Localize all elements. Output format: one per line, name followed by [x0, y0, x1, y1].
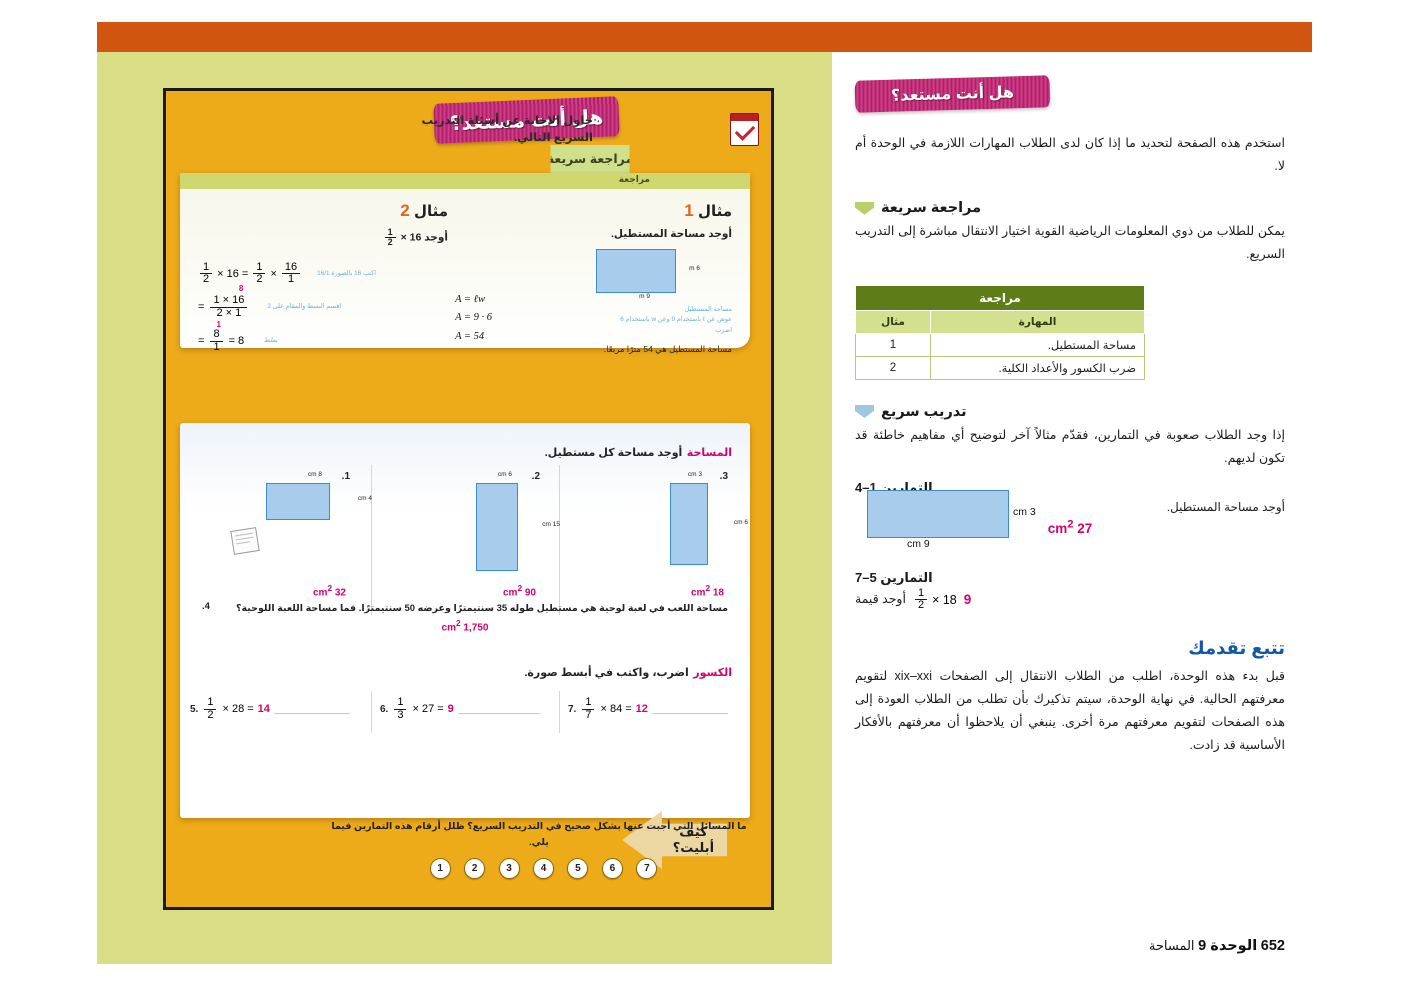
fraction-item-7-answer: 12: [636, 703, 648, 715]
ex-5-7-answer: 9: [964, 592, 972, 607]
example-2-prompt: أوجد 12 × 16: [198, 228, 448, 248]
fraction-divider-2: [371, 691, 372, 733]
example-1-formula-0: A = ℓw: [455, 291, 492, 309]
example-2-cancel-top: 8: [239, 285, 243, 293]
example-1-steps: مساحة المستطيل عوض عن ℓ باستخدام 9 وعن w…: [502, 305, 732, 336]
student-page: McGraw-Hill Education نسخة المعلم حقوق ا…: [166, 91, 771, 907]
quick-review-heading-label: مراجعة سريعة: [881, 200, 981, 216]
practice-item-3-number: 3.: [720, 471, 728, 482]
progress-circle-5[interactable]: 5: [567, 858, 588, 879]
chevron-down-icon: [855, 202, 874, 215]
review-table-skill-2: ضرب الكسور والأعداد الكلية.: [931, 356, 1145, 379]
progress-circle-6[interactable]: 6: [602, 858, 623, 879]
teacher-rectangle-width: 9 cm: [907, 538, 930, 550]
teacher-ready-banner-label: هل أنت مستعد؟: [855, 75, 1051, 112]
progress-circle-7[interactable]: 7: [636, 858, 657, 879]
top-orange-bar: [97, 22, 1312, 52]
example-2-line-2: = 1 × 162 × 1 8 1 اقسم البسط والمقام على…: [198, 295, 448, 319]
practice-item-2: 2. 6 cm 15 cm 90 cm2: [390, 471, 540, 581]
practice-item-1-answer: 32 cm2: [313, 583, 346, 598]
fraction-item-5-expr: × 28 =: [222, 703, 253, 715]
ex-5-7-title: التمارين 5–7: [855, 570, 1285, 586]
example-1-width-label: 9 m: [639, 293, 650, 300]
example-2-line-3: = 81 = 8 بسّط: [198, 329, 448, 353]
example-1-height-label: 6 m: [689, 265, 700, 272]
fraction-item-6-num: 1: [394, 697, 406, 710]
example-1-prompt: أوجد مساحة المستطيل.: [502, 228, 732, 240]
review-card: مراجعة مثال 1 أوجد مساحة المستطيل. 6 m 9…: [180, 173, 750, 348]
practice-item-2-answer: 90 cm2: [503, 583, 536, 598]
example-2-note-2: بسّط: [264, 336, 278, 346]
example-2-result: = 8: [229, 335, 245, 347]
practice-item-4: مساحة اللعب في لعبة لوحية هي مستطيل طوله…: [202, 601, 728, 634]
fraction-item-7: 7. 17 × 84 = 12: [568, 697, 728, 721]
review-table-example-1: 1: [856, 333, 931, 356]
how-did-you-do-question: ما المسائل التي أجبت عنها بشكل صحيح في ا…: [329, 819, 749, 851]
example-1-heading: مثال 1: [502, 201, 732, 221]
practice-item-1: 1. 8 cm 4 cm 32 cm2: [200, 471, 350, 581]
practice-item-3-rectangle: [670, 483, 708, 565]
practice-item-2-number: 2.: [532, 471, 540, 482]
fraction-heading-tag: الكسور: [693, 667, 732, 679]
example-1-number: 1: [684, 201, 693, 220]
quick-practice-heading: تدريب سريع: [855, 404, 1285, 420]
table-row: ضرب الكسور والأعداد الكلية. 2: [856, 356, 1145, 379]
example-1-note-2: اضرب: [502, 326, 732, 336]
example-2-number: 2: [400, 201, 409, 220]
ex-5-7-block: التمارين 5–7 9 12 × 18 أوجد قيمة: [855, 570, 1285, 612]
example-1-note-0: مساحة المستطيل: [502, 305, 732, 315]
try-hint-text: حاول الإجابة عن أسئلة التدريب السريع الت…: [413, 113, 593, 148]
practice-item-1-number: 1.: [342, 471, 350, 482]
practice-item-1-rectangle: [266, 483, 330, 520]
practice-item-2-height: 15 cm: [542, 521, 560, 528]
progress-circle-4[interactable]: 4: [533, 858, 554, 879]
example-2-note-1: اقسم البسط والمقام على 2: [267, 302, 341, 312]
quick-review-body: يمكن للطلاب من ذوي المعلومات الرياضية ال…: [855, 220, 1285, 266]
example-2-prompt-den: 2: [385, 238, 396, 247]
how-did-you-do-block: ما المسائل التي أجبت عنها بشكل صحيح في ا…: [329, 819, 749, 879]
example-1-formulas: A = ℓw A = 9 · 6 A = 54: [455, 291, 492, 346]
example-2-line-1: 12 × 16 = 12 × 161 اكتب 16 بالصورة 16/1: [198, 262, 448, 286]
example-1-formula-1: A = 9 · 6: [455, 309, 492, 327]
fraction-item-5-num: 1: [204, 697, 216, 710]
checklist-icon: [730, 113, 759, 146]
quick-practice-exercises: التمارين 1–4 أوجد مساحة المستطيل. 27 cm2…: [855, 480, 1285, 566]
example-1: مثال 1 أوجد مساحة المستطيل. 6 m 9 m مساح…: [502, 201, 732, 355]
example-2-heading: مثال 2: [198, 201, 448, 221]
practice-item-2-width: 6 cm: [498, 471, 512, 478]
practice-item-2-rectangle: [476, 483, 518, 571]
teacher-rectangle: [867, 490, 1009, 538]
ex-1-4-answer: 27 cm2: [1048, 521, 1093, 536]
example-1-figure: 6 m 9 m: [502, 249, 732, 303]
practice-item-1-height: 4 cm: [358, 495, 372, 502]
practice-divider-1: [559, 465, 560, 615]
practice-item-4-text: مساحة اللعب في لعبة لوحية هي مستطيل طوله…: [216, 601, 728, 616]
practice-item-4-answer-value: 1,750 cm: [442, 623, 489, 634]
fraction-item-5: 5. 12 × 28 = 14: [190, 697, 350, 721]
page-footer: 652 الوحدة 9 المساحة: [1149, 938, 1285, 954]
practice-item-4-number: 4.: [202, 601, 210, 612]
example-2-prompt-prefix: أوجد: [424, 232, 448, 244]
teacher-intro: استخدم هذه الصفحة لتحديد ما إذا كان لدى …: [855, 132, 1285, 178]
fraction-item-6-answer: 9: [448, 703, 454, 715]
fraction-item-6-den: 3: [394, 710, 406, 722]
example-2-cancel-bottom: 1: [216, 321, 220, 329]
quick-practice-heading-label: تدريب سريع: [881, 404, 967, 420]
example-1-note-1: عوض عن ℓ باستخدام 9 وعن w باستخدام 6: [502, 315, 732, 325]
practice-heading: المساحة أوجد مساحة كل مستطيل.: [545, 443, 732, 461]
practice-item-3-answer: 18 cm2: [691, 583, 724, 598]
ex-5-7-den: 2: [915, 600, 927, 612]
example-2-one: 1: [285, 274, 297, 286]
example-1-rectangle: [596, 249, 676, 293]
quick-review-heading: مراجعة سريعة: [855, 200, 1285, 216]
ex-5-7-expr: × 18: [932, 593, 957, 607]
fraction-item-5-number: 5.: [190, 704, 198, 715]
table-row: مساحة المستطيل. 1: [856, 333, 1145, 356]
practice-divider-2: [371, 465, 372, 615]
fraction-item-7-den: 7: [582, 710, 594, 722]
example-2: مثال 2 أوجد 12 × 16 12: [198, 201, 448, 353]
review-table-col-skill: المهارة: [931, 310, 1145, 333]
example-2-note-0: اكتب 16 بالصورة 16/1: [317, 269, 376, 279]
practice-item-1-width: 8 cm: [308, 471, 322, 478]
ex-5-7-prompt: أوجد قيمة: [855, 588, 906, 611]
progress-circle-3[interactable]: 3: [499, 858, 520, 879]
review-table-skill-1: مساحة المستطيل.: [931, 333, 1145, 356]
progress-circle-1[interactable]: 1: [430, 858, 451, 879]
chevron-down-icon: [855, 405, 874, 418]
progress-circle-2[interactable]: 2: [464, 858, 485, 879]
practice-heading-tag: المساحة: [687, 447, 732, 459]
practice-item-3-height: 6 cm: [734, 519, 748, 526]
fraction-divider-1: [559, 691, 560, 733]
review-tab: مراجعة: [180, 173, 750, 189]
fraction-item-6-expr: × 27 =: [412, 703, 443, 715]
footer-unit: الوحدة 9: [1198, 938, 1257, 954]
student-page-frame: McGraw-Hill Education نسخة المعلم حقوق ا…: [163, 88, 774, 910]
review-table-col-example: مثال: [856, 310, 931, 333]
fraction-item-6-number: 6.: [380, 704, 388, 715]
track-progress-heading: تتبع تقدمك: [855, 638, 1285, 659]
example-1-title: مثال: [698, 203, 732, 220]
practice-heading-text: أوجد مساحة كل مستطيل.: [545, 447, 683, 459]
review-table-example-2: 2: [856, 356, 931, 379]
teacher-column: هل أنت مستعد؟ استخدم هذه الصفحة لتحديد م…: [855, 78, 1285, 757]
example-1-formula-2: A = 54: [455, 328, 492, 346]
textbook-page: McGraw-Hill Education نسخة المعلم حقوق ا…: [0, 0, 1403, 992]
fraction-heading: الكسور اضرب، واكتب في أبسط صورة.: [524, 663, 732, 681]
review-tab-label: مراجعة: [619, 174, 650, 185]
review-table: مراجعة المهارة مثال مساحة المستطيل. 1 ضر…: [855, 285, 1145, 380]
fraction-item-5-answer: 14: [258, 703, 270, 715]
review-badge-label: مراجعة سريعة: [538, 145, 642, 168]
fraction-item-5-den: 2: [204, 710, 216, 722]
practice-item-3-width: 3 cm: [688, 471, 702, 478]
fraction-item-6: 6. 13 × 27 = 9: [380, 697, 540, 721]
practice-item-3: 3. 3 cm 6 cm 18 cm2: [578, 471, 728, 581]
example-2-work: 12 × 16 = 12 × 161 اكتب 16 بالصورة 16/1 …: [198, 262, 448, 353]
quick-practice-body: إذا وجد الطلاب صعوبة في التمارين، فقدّم …: [855, 424, 1285, 470]
fraction-item-7-number: 7.: [568, 704, 576, 715]
example-2-title: مثال: [414, 203, 448, 220]
footer-page-number: 652: [1261, 938, 1285, 954]
how-did-you-do-circles: 1 2 3 4 5 6 7: [329, 858, 749, 879]
practice-item-4-answer: 1,750 cm2: [202, 618, 728, 633]
teacher-rectangle-height: 3 cm: [1013, 506, 1036, 518]
fraction-item-7-expr: × 84 =: [600, 703, 631, 715]
teacher-ready-banner: هل أنت مستعد؟: [855, 75, 1051, 112]
practice-card: المساحة أوجد مساحة كل مستطيل. 1. 8 cm 4 …: [180, 423, 750, 818]
fraction-heading-text: اضرب، واكتب في أبسط صورة.: [524, 667, 688, 679]
review-table-title: مراجعة: [856, 285, 1145, 310]
fraction-item-7-num: 1: [582, 697, 594, 710]
footer-topic: المساحة: [1149, 938, 1195, 953]
example-2-prompt-rest: × 16: [401, 232, 422, 244]
worksheet-icon: [230, 527, 259, 555]
example-1-conclusion: مساحة المستطيل هي 54 مترًا مربعًا.: [502, 344, 732, 355]
track-progress-body: قبل بدء هذه الوحدة، اطلب من الطلاب الانت…: [855, 665, 1285, 758]
